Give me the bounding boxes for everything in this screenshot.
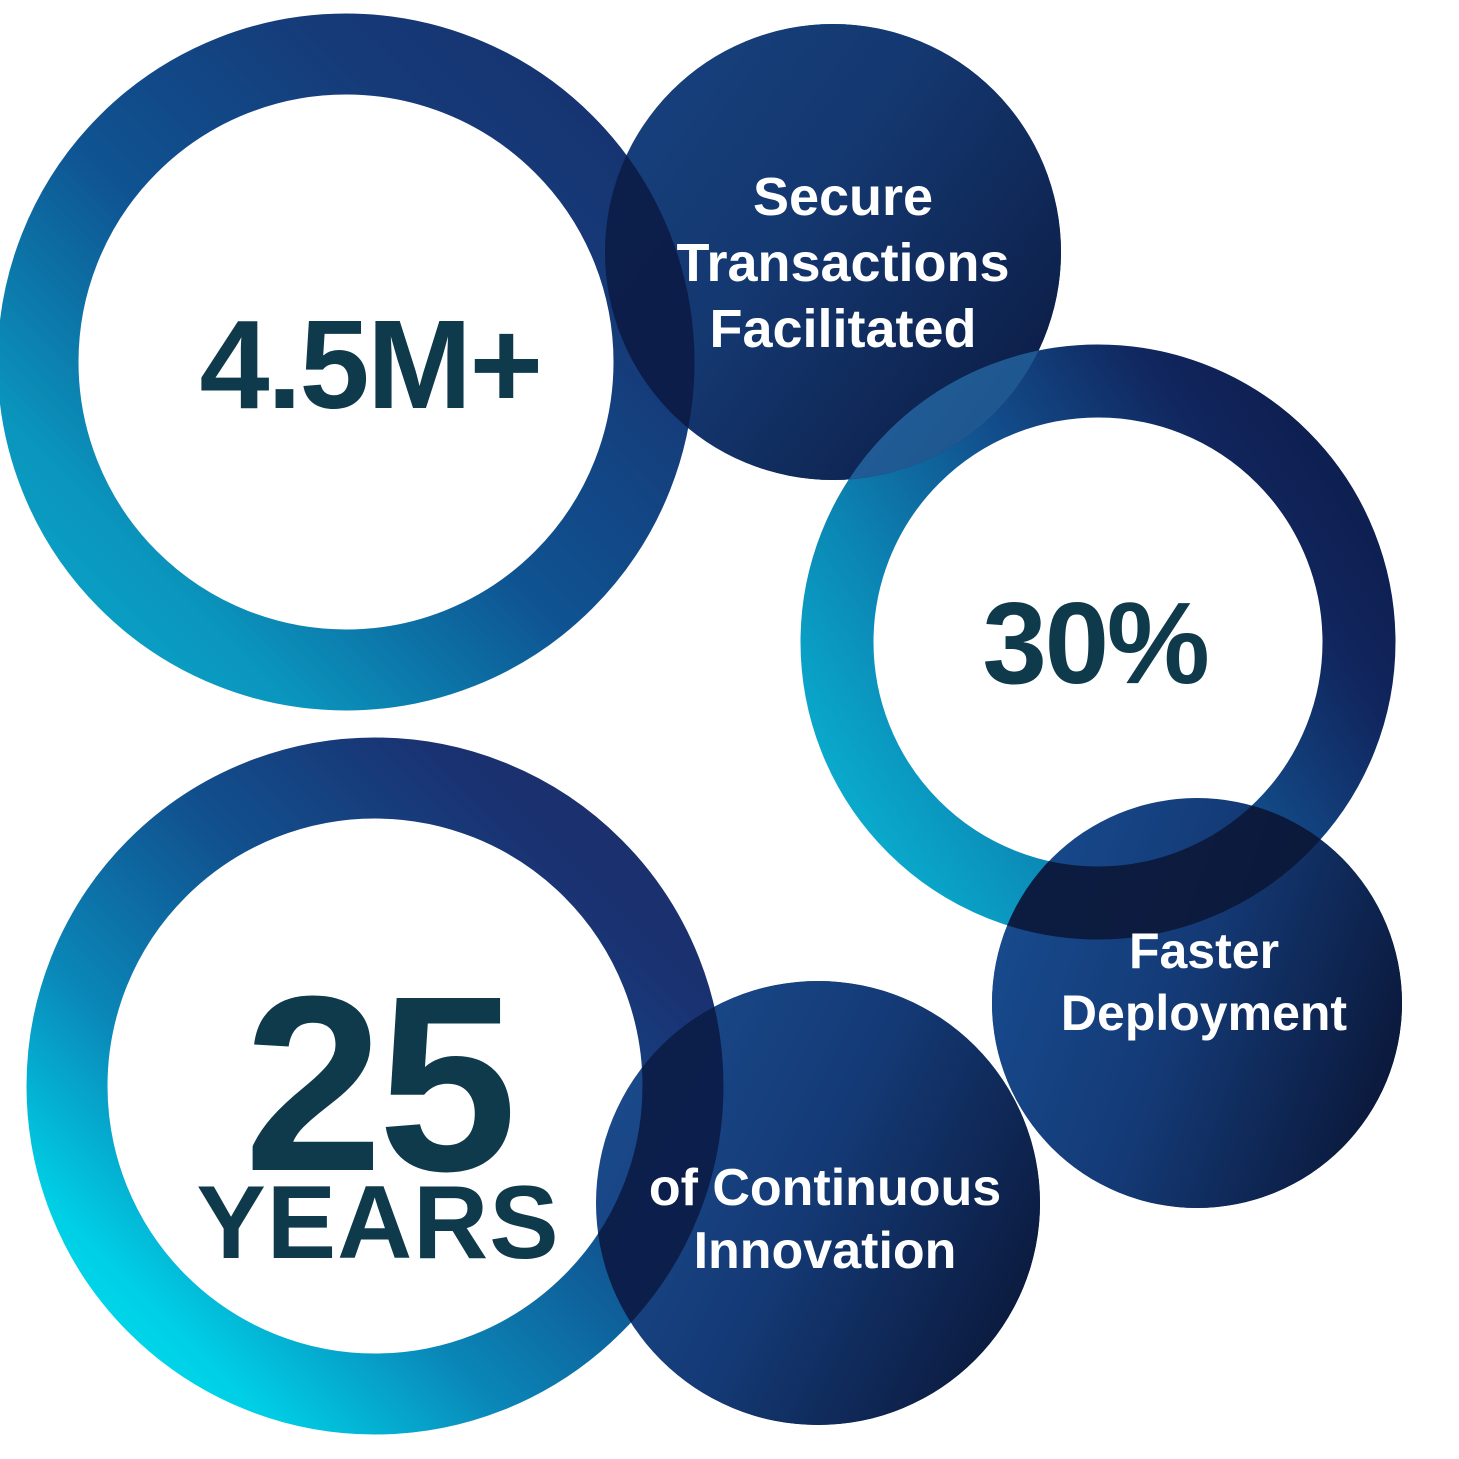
ring1-shadow-in-bubble1	[38, 54, 654, 670]
ring3-shadow-in-bubble3	[67, 778, 683, 1394]
bubbles-front-layer: Secure Transactions Facilitated Faster D…	[0, 0, 1459, 1459]
bubble-secure-transactions[interactable]: Secure Transactions Facilitated	[38, 24, 1359, 903]
bubble-label-line-2: Innovation	[694, 1222, 957, 1280]
bubble-label-line-2: Transactions	[676, 233, 1009, 293]
bubble-label-line-1: of Continuous	[649, 1159, 1001, 1217]
bubble-label-line-3: Facilitated	[709, 299, 976, 359]
bubble-label-line-1: Secure	[753, 167, 933, 227]
bubble-label-line-1: Faster	[1129, 923, 1279, 979]
bubble-label-line-2: Deployment	[1061, 985, 1348, 1041]
bubble-continuous-innovation[interactable]: of Continuous Innovation	[67, 778, 1040, 1425]
infographic-canvas: 4.5M+ 30% 25 YEARS	[0, 0, 1459, 1459]
